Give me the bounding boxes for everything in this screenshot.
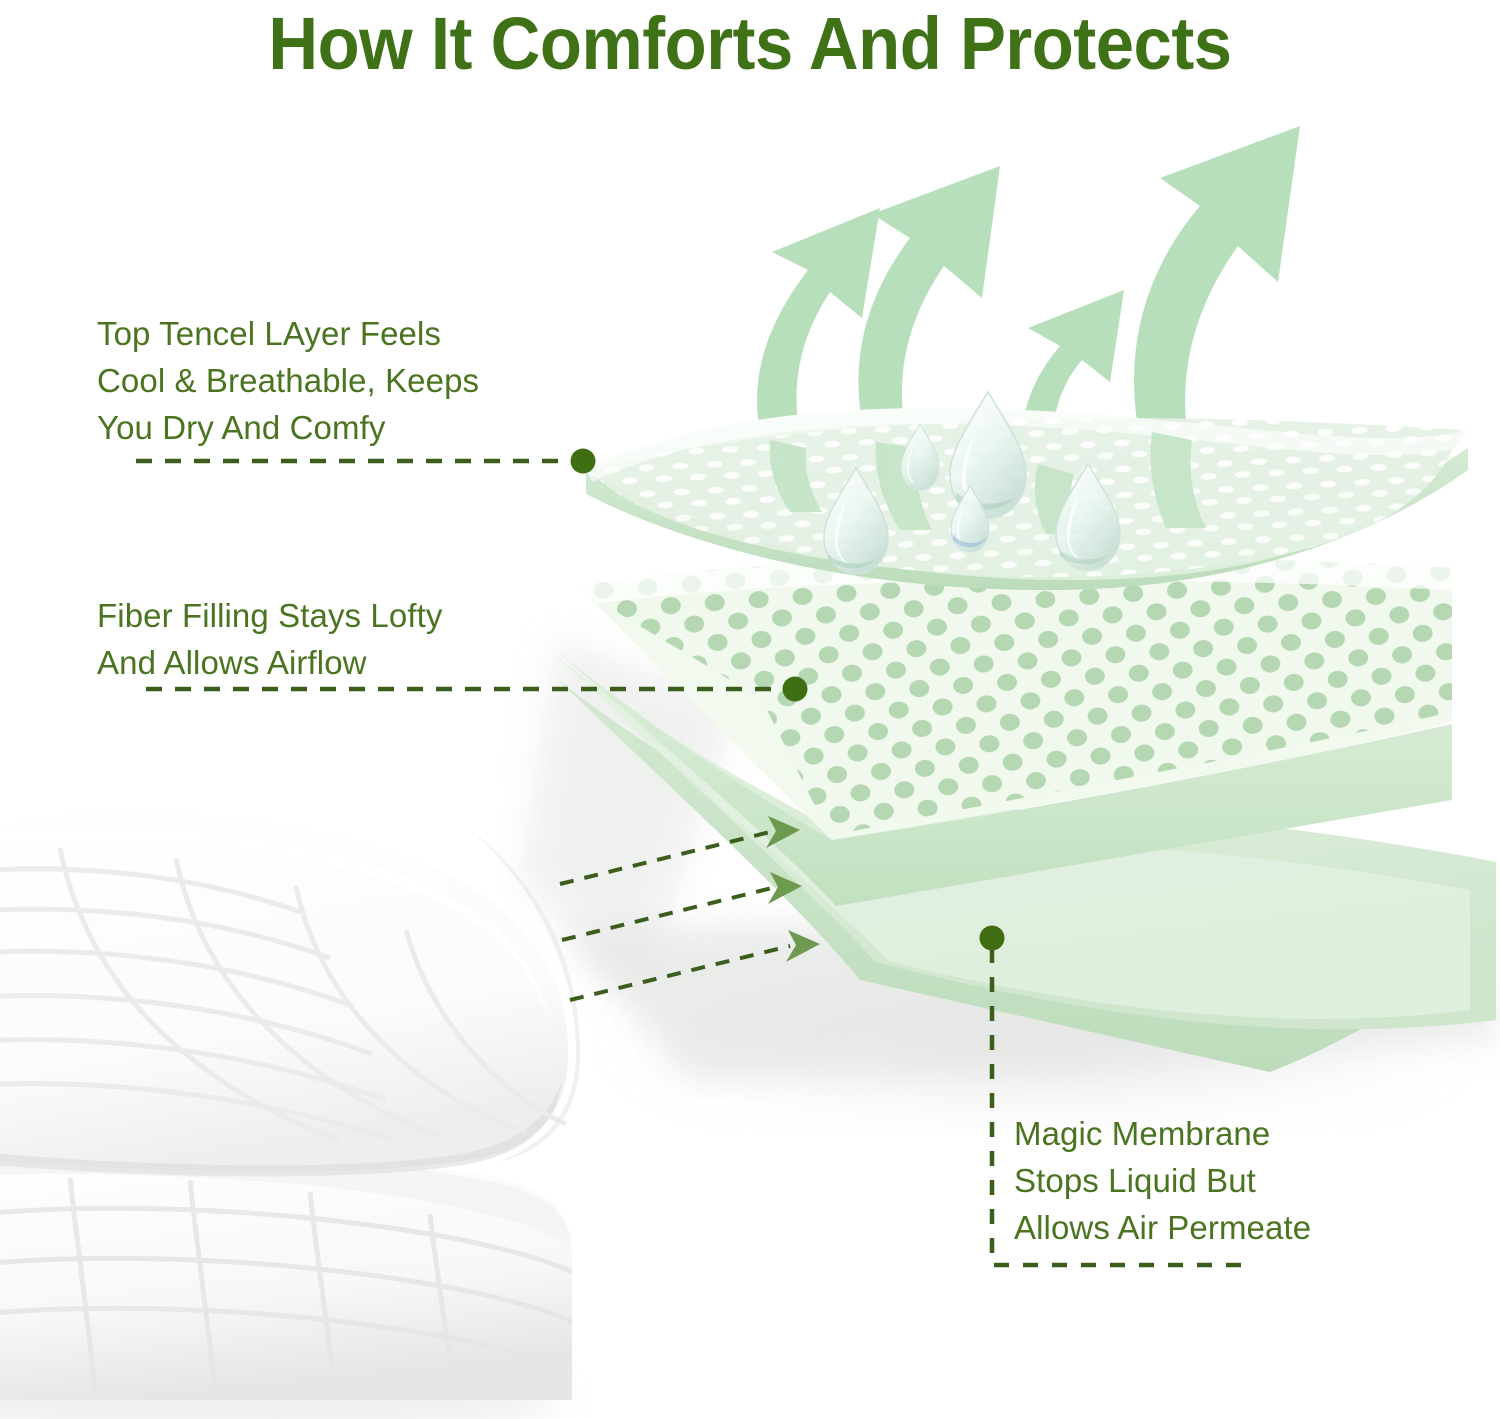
callout-label-fiber-filling: Fiber Filling Stays Lofty And Allows Air… xyxy=(97,592,442,686)
dot-fiber-filling xyxy=(783,677,808,702)
folded-mattress-protector-stack xyxy=(0,811,580,1419)
infographic-root: How It Comforts And Protects xyxy=(0,0,1500,1419)
dot-top-tencel xyxy=(571,449,596,474)
dot-magic-membrane xyxy=(980,926,1005,951)
callout-label-top-tencel: Top Tencel LAyer Feels Cool & Breathable… xyxy=(97,310,479,451)
callout-label-magic-membrane: Magic Membrane Stops Liquid But Allows A… xyxy=(1014,1110,1311,1251)
